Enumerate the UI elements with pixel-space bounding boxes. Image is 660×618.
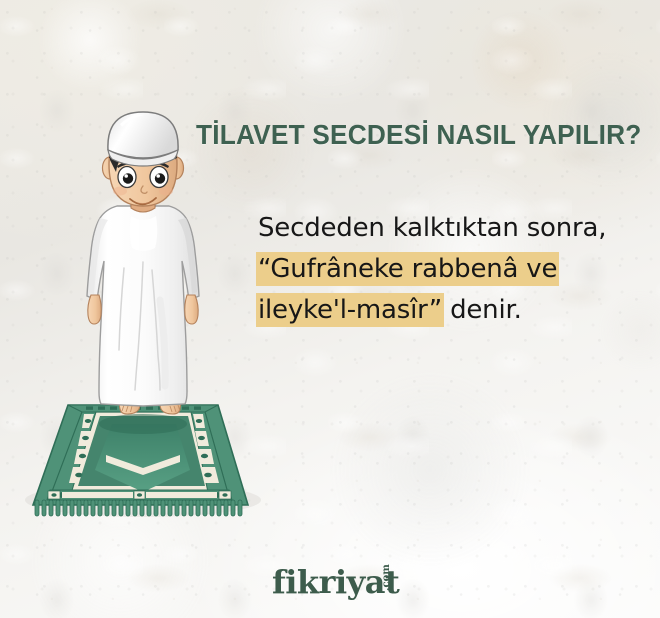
- body-text: Secdeden kalktıktan sonra, “Gufrâneke ra…: [258, 208, 650, 331]
- body-line-1: Secdeden kalktıktan sonra,: [258, 208, 650, 249]
- body-line-2-highlighted: “Gufrâneke rabbenâ ve: [258, 254, 557, 284]
- body-line-2: “Gufrâneke rabbenâ ve: [258, 249, 650, 290]
- brand-logo-domain: .com: [381, 564, 392, 591]
- body-line-1-text: Secdeden kalktıktan sonra,: [258, 213, 606, 243]
- page-title: TİLAVET SECDESİ NASIL YAPILIR?: [196, 119, 635, 151]
- body-line-3: ileyke'l-masîr” denir.: [258, 290, 650, 331]
- prayer-rug: [25, 405, 261, 517]
- boy-prayer-cap: [108, 112, 178, 166]
- body-line-3-highlighted: ileyke'l-masîr”: [258, 295, 442, 325]
- brand-logo[interactable]: fikriyat.com: [272, 563, 426, 601]
- body-line-3-tail: denir.: [442, 295, 522, 325]
- boy-figure: [87, 112, 199, 414]
- poster-canvas: TİLAVET SECDESİ NASIL YAPILIR? Secdeden …: [0, 0, 660, 618]
- rug-bottom-border: [47, 490, 232, 500]
- boy-thobe: [87, 200, 199, 406]
